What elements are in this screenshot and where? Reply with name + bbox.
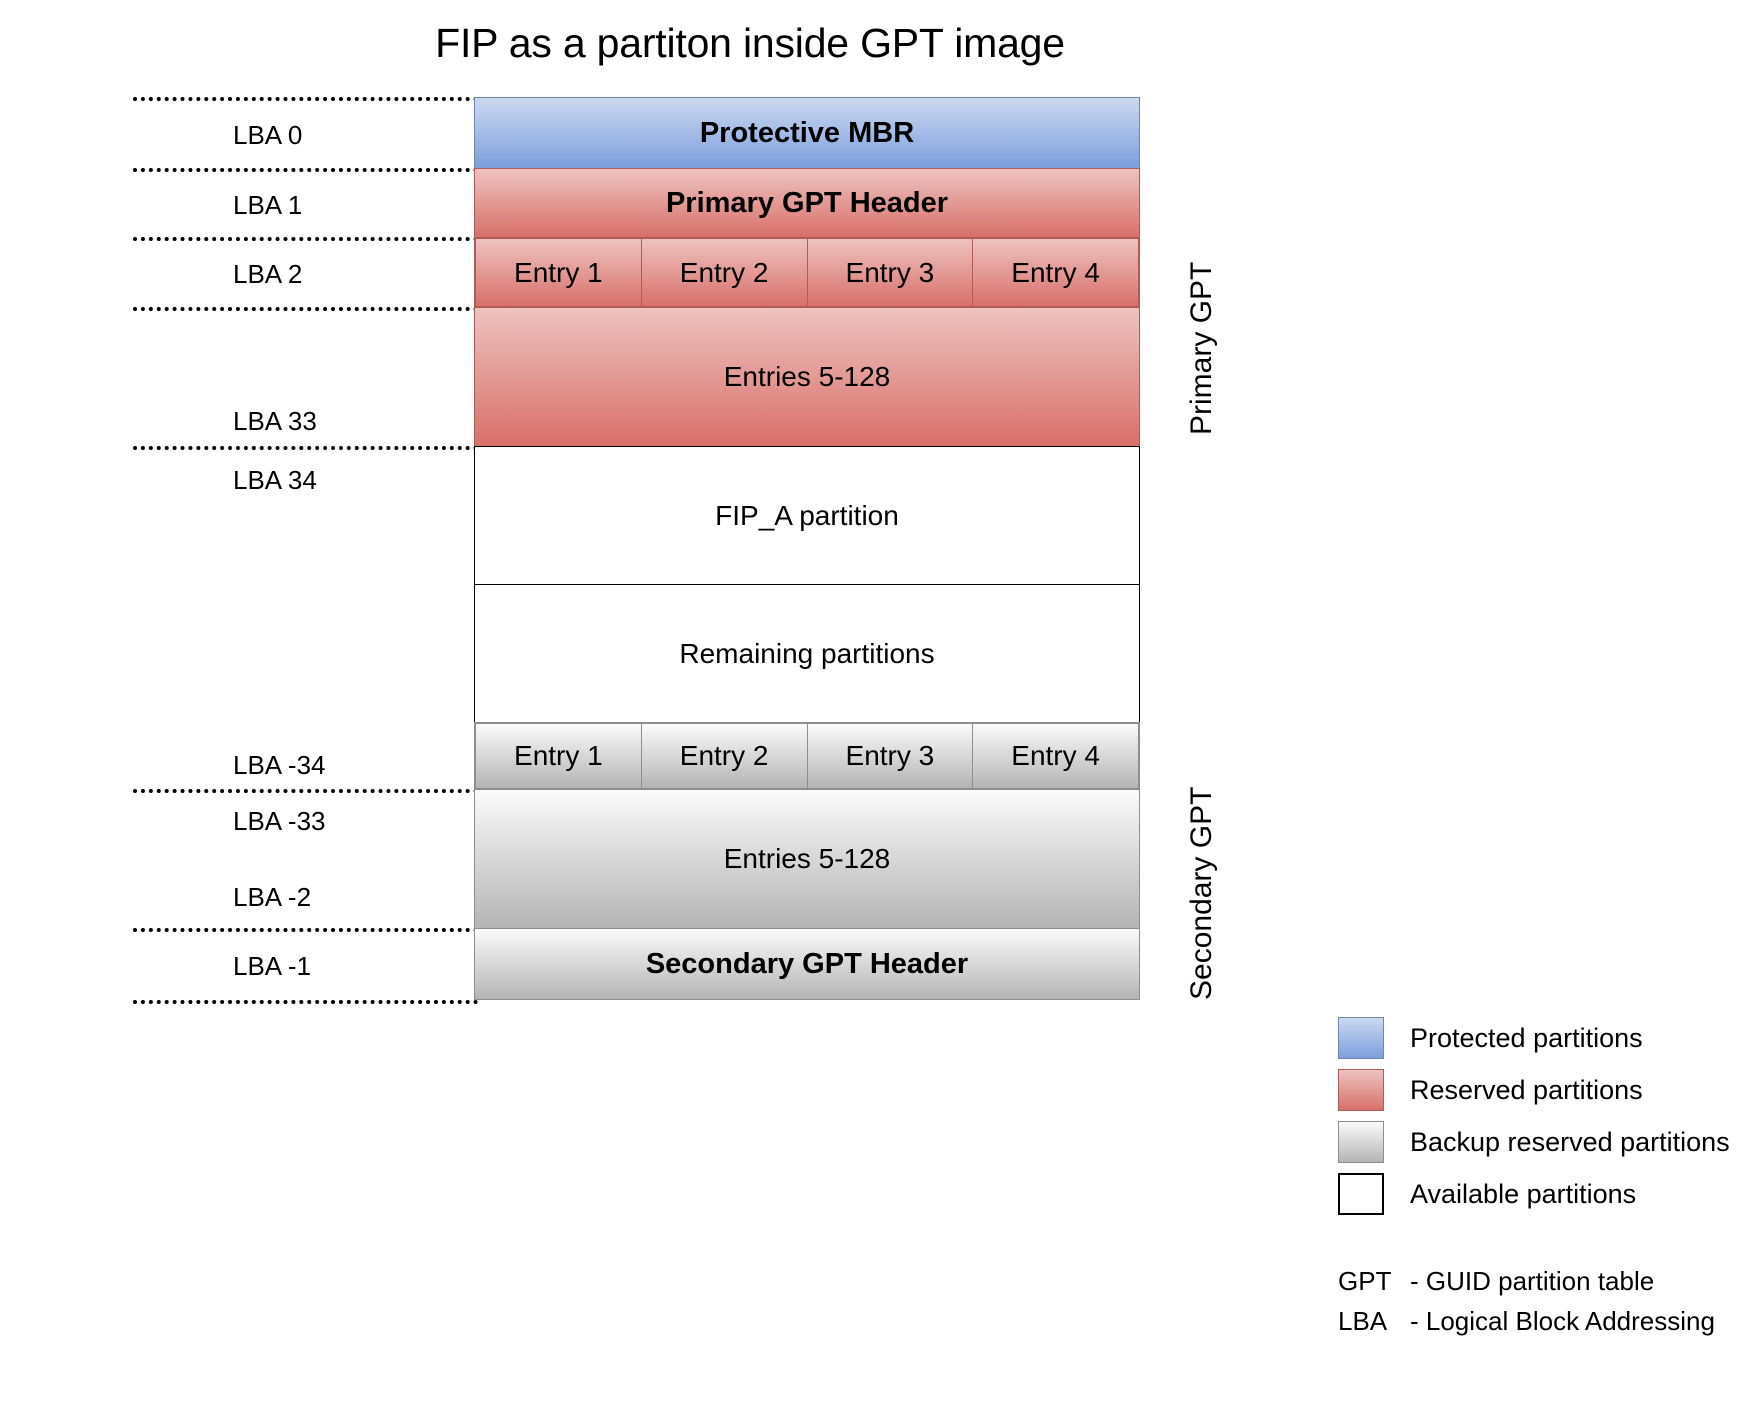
lba-label-33: LBA 33 bbox=[233, 406, 317, 437]
guide-line-lba2-top bbox=[133, 237, 478, 241]
legend-item-protected: Protected partitions bbox=[1338, 1012, 1738, 1064]
block-remaining-partitions[interactable]: Remaining partitions bbox=[474, 584, 1140, 723]
primary-entry-2[interactable]: Entry 2 bbox=[641, 238, 808, 307]
abbreviation-gpt-key: GPT bbox=[1338, 1262, 1410, 1302]
side-label-primary-gpt: Primary GPT bbox=[1185, 262, 1219, 435]
legend-item-reserved: Reserved partitions bbox=[1338, 1064, 1738, 1116]
block-secondary-entries-5-128[interactable]: Entries 5-128 bbox=[474, 789, 1140, 929]
legend-label-protected: Protected partitions bbox=[1410, 1023, 1643, 1054]
legend: Protected partitions Reserved partitions… bbox=[1338, 1012, 1738, 1220]
legend-item-backup-reserved: Backup reserved partitions bbox=[1338, 1116, 1738, 1168]
legend-label-backup-reserved: Backup reserved partitions bbox=[1410, 1127, 1730, 1158]
legend-item-available: Available partitions bbox=[1338, 1168, 1738, 1220]
guide-line-lba0-top bbox=[133, 97, 478, 101]
abbreviation-gpt: GPT - GUID partition table bbox=[1338, 1262, 1715, 1302]
guide-line-lba1-top bbox=[133, 168, 478, 172]
primary-entry-1[interactable]: Entry 1 bbox=[475, 238, 642, 307]
lba-label-0: LBA 0 bbox=[233, 120, 302, 151]
secondary-entry-3[interactable]: Entry 3 bbox=[807, 723, 974, 789]
primary-entry-4[interactable]: Entry 4 bbox=[972, 238, 1139, 307]
lba-label-34: LBA 34 bbox=[233, 465, 317, 496]
guide-line-lbam33-top bbox=[133, 789, 478, 793]
block-fip-a-partition[interactable]: FIP_A partition bbox=[474, 446, 1140, 585]
lba-label-m2: LBA -2 bbox=[233, 882, 311, 913]
secondary-entry-2[interactable]: Entry 2 bbox=[641, 723, 808, 789]
primary-entry-3[interactable]: Entry 3 bbox=[807, 238, 974, 307]
lba-label-2: LBA 2 bbox=[233, 259, 302, 290]
block-primary-entries-5-128[interactable]: Entries 5-128 bbox=[474, 307, 1140, 447]
secondary-entry-row: Entry 1 Entry 2 Entry 3 Entry 4 bbox=[474, 722, 1140, 790]
legend-label-available: Available partitions bbox=[1410, 1179, 1636, 1210]
lba-label-1: LBA 1 bbox=[233, 190, 302, 221]
page-title: FIP as a partiton inside GPT image bbox=[0, 20, 1500, 67]
abbreviation-gpt-value: - GUID partition table bbox=[1410, 1262, 1654, 1302]
lba-label-m34: LBA -34 bbox=[233, 750, 326, 781]
primary-entry-row: Entry 1 Entry 2 Entry 3 Entry 4 bbox=[474, 237, 1140, 308]
abbreviation-lba-value: - Logical Block Addressing bbox=[1410, 1302, 1715, 1342]
legend-label-reserved: Reserved partitions bbox=[1410, 1075, 1643, 1106]
secondary-entry-4[interactable]: Entry 4 bbox=[972, 723, 1139, 789]
side-label-secondary-gpt: Secondary GPT bbox=[1185, 787, 1219, 1000]
reserved-swatch bbox=[1338, 1069, 1384, 1111]
diagram-canvas: FIP as a partiton inside GPT image LBA 0… bbox=[0, 0, 1742, 1412]
lba-label-m1: LBA -1 bbox=[233, 951, 311, 982]
backup-reserved-swatch bbox=[1338, 1121, 1384, 1163]
lba-label-m33: LBA -33 bbox=[233, 806, 326, 837]
block-secondary-gpt-header[interactable]: Secondary GPT Header bbox=[474, 928, 1140, 1000]
abbreviation-lba-key: LBA bbox=[1338, 1302, 1410, 1342]
guide-line-bottom bbox=[133, 1000, 478, 1004]
abbreviation-lba: LBA - Logical Block Addressing bbox=[1338, 1302, 1715, 1342]
available-swatch bbox=[1338, 1173, 1384, 1215]
protected-swatch bbox=[1338, 1017, 1384, 1059]
block-protective-mbr[interactable]: Protective MBR bbox=[474, 97, 1140, 169]
guide-line-entries-top bbox=[133, 307, 478, 311]
guide-line-lbam1-top bbox=[133, 928, 478, 932]
block-primary-gpt-header[interactable]: Primary GPT Header bbox=[474, 168, 1140, 238]
abbreviation-notes: GPT - GUID partition table LBA - Logical… bbox=[1338, 1262, 1715, 1341]
secondary-entry-1[interactable]: Entry 1 bbox=[475, 723, 642, 789]
guide-line-lba34-top bbox=[133, 446, 478, 450]
